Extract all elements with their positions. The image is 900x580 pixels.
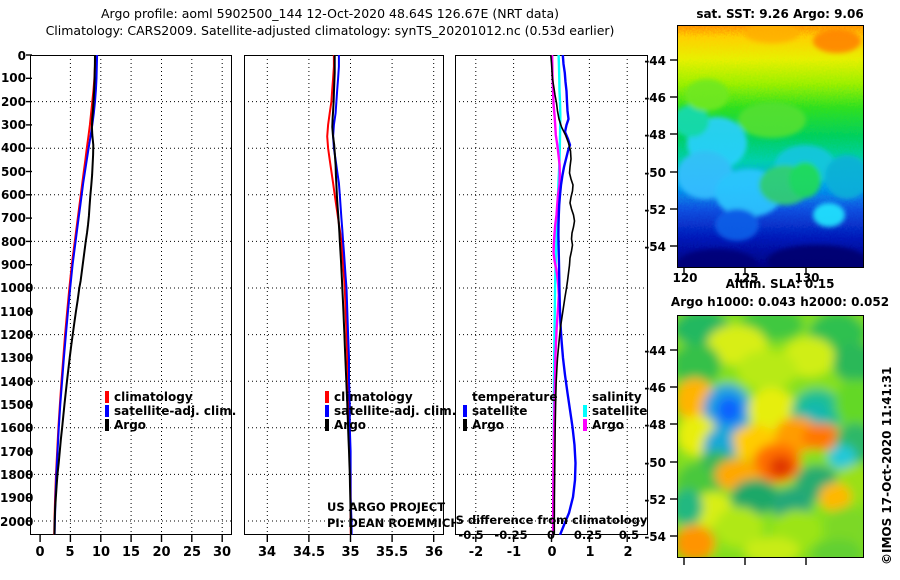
- legend-item-climatology: climatology: [105, 390, 236, 404]
- legend-item-satellite-adj-salinity: satellite-adj. clim.: [325, 404, 456, 418]
- legend-swatch-climatology-salinity: [325, 391, 329, 403]
- legend-swatch-satellite-adj: [105, 405, 109, 417]
- temperature-panel-legend: climatology satellite-adj. clim. Argo: [105, 390, 236, 432]
- legend-item-argo-salinity: Argo: [325, 418, 456, 432]
- sst-map-axes: [670, 22, 870, 282]
- legend-label-argo-salinity: Argo: [334, 418, 366, 432]
- legend-item-argo: Argo: [105, 418, 236, 432]
- legend-swatch-climatology: [105, 391, 109, 403]
- legend-swatch-argo-salinity: [325, 419, 329, 431]
- legend-item-temperature-argo: Argo: [463, 418, 557, 432]
- project-credit: US ARGO PROJECT: [327, 500, 445, 514]
- legend-label-climatology: climatology: [114, 390, 193, 404]
- legend-swatch-temperature-argo: [463, 419, 467, 431]
- legend-label-salinity-satellite: satellite: [592, 404, 647, 418]
- sla-map-title-line2: Argo h1000: 0.043 h2000: 0.052: [660, 295, 900, 309]
- legend-swatch-satellite-adj-salinity: [325, 405, 329, 417]
- pi-credit: PI: DEAN ROEMMICH: [327, 516, 460, 530]
- page-title-line1: Argo profile: aoml 5902500_144 12-Oct-20…: [0, 6, 660, 21]
- legend-label-argo: Argo: [114, 418, 146, 432]
- legend-swatch-spacer-salinity: [583, 391, 587, 403]
- temperature-axis-ticks: [30, 535, 234, 544]
- legend-swatch-argo: [105, 419, 109, 431]
- legend-heading-temperature-row: temperature: [463, 390, 557, 404]
- legend-item-temperature-satellite: satellite: [463, 404, 557, 418]
- depth-axis-ticks-panel1: [24, 52, 32, 538]
- difference-profile-plot: [455, 55, 648, 535]
- page-title-line2: Climatology: CARS2009. Satellite-adjuste…: [0, 23, 660, 38]
- legend-item-salinity-satellite: satellite: [583, 404, 647, 418]
- legend-swatch-spacer-temperature: [463, 391, 467, 403]
- legend-label-satellite-adj: satellite-adj. clim.: [114, 404, 236, 418]
- legend-label-temperature-argo: Argo: [472, 418, 504, 432]
- legend-item-satellite-adj: satellite-adj. clim.: [105, 404, 236, 418]
- difference-axis-ticks: [455, 535, 650, 544]
- legend-swatch-salinity-satellite: [583, 405, 587, 417]
- sst-map-title: sat. SST: 9.26 Argo: 9.06: [660, 7, 900, 21]
- legend-label-salinity-argo: Argo: [592, 418, 624, 432]
- salinity-difference-axis-title: S difference from climatology: [455, 513, 648, 527]
- temperature-profile-plot: [30, 55, 232, 535]
- legend-label-climatology-salinity: climatology: [334, 390, 413, 404]
- legend-item-climatology-salinity: climatology: [325, 390, 456, 404]
- imos-credit: ©IMOS 17-Oct-2020 11:41:31: [880, 367, 894, 565]
- salinity-profile-plot: [244, 55, 444, 535]
- legend-label-satellite-adj-salinity: satellite-adj. clim.: [334, 404, 456, 418]
- difference-legend-temperature: temperature satellite Argo: [463, 390, 557, 432]
- legend-swatch-salinity-argo: [583, 419, 587, 431]
- salinity-panel-legend: climatology satellite-adj. clim. Argo: [325, 390, 456, 432]
- legend-label-temperature-satellite: satellite: [472, 404, 527, 418]
- legend-heading-temperature: temperature: [472, 390, 557, 404]
- sla-map-axes: [670, 312, 870, 572]
- legend-swatch-temperature-satellite: [463, 405, 467, 417]
- salinity-axis-ticks: [244, 535, 446, 544]
